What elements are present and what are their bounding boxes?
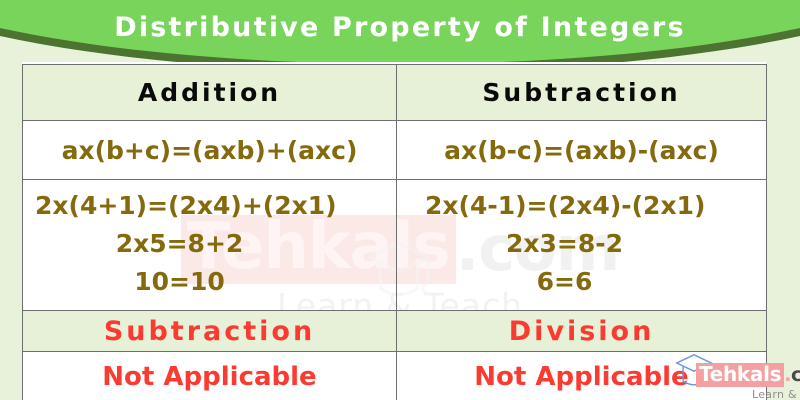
example-line: 2x(4+1)=(2x4)+(2x1) xyxy=(23,191,396,220)
not-applicable-cell-subtraction: Not Applicable xyxy=(23,352,397,400)
not-applicable-division: Not Applicable xyxy=(474,362,688,392)
column-label-subtraction: Subtraction xyxy=(482,78,680,107)
page-title: Distributive Property of Integers xyxy=(0,12,800,43)
column-label-division: Division xyxy=(509,316,655,347)
example-line: 2x3=8-2 xyxy=(397,229,766,258)
example-cell-addition: 2x(4+1)=(2x4)+(2x1) 2x5=8+2 10=10 xyxy=(23,180,397,311)
example-lines-addition: 2x(4+1)=(2x4)+(2x1) 2x5=8+2 10=10 xyxy=(23,180,396,296)
formula-cell-addition: ax(b+c)=(axb)+(axc) xyxy=(23,121,397,180)
example-cell-subtraction: 2x(4-1)=(2x4)-(2x1) 2x3=8-2 6=6 xyxy=(397,180,767,311)
column-label-addition: Addition xyxy=(138,78,281,107)
table-header-row-non-applicable-operations: Subtraction Division xyxy=(23,311,767,352)
example-line: 2x5=8+2 xyxy=(23,229,396,258)
distributive-property-table: Addition Subtraction ax(b+c)=(axb)+(axc)… xyxy=(22,64,767,400)
logo-dot: . xyxy=(784,364,791,386)
logo-domain: .com xyxy=(784,366,800,385)
formula-addition: ax(b+c)=(axb)+(axc) xyxy=(62,136,358,165)
not-applicable-subtraction: Not Applicable xyxy=(102,362,316,392)
table-row-formulas: ax(b+c)=(axb)+(axc) ax(b-c)=(axb)-(axc) xyxy=(23,121,767,180)
brand-logo: Tehkals .com Learn & Teach xyxy=(674,351,792,397)
logo-brand-row: Tehkals .com xyxy=(696,363,800,387)
table-header-cell-subtraction: Subtraction xyxy=(397,65,767,121)
example-line: 10=10 xyxy=(23,267,396,296)
table-row-examples: 2x(4+1)=(2x4)+(2x1) 2x5=8+2 10=10 2x(4-1… xyxy=(23,180,767,311)
table-header-cell-addition: Addition xyxy=(23,65,397,121)
logo-tagline: Learn & Teach xyxy=(696,388,800,400)
table-row-not-applicable: Not Applicable Not Applicable xyxy=(23,352,767,400)
logo-text-block: Tehkals .com Learn & Teach xyxy=(696,363,800,400)
example-line: 2x(4-1)=(2x4)-(2x1) xyxy=(397,191,766,220)
formula-subtraction: ax(b-c)=(axb)-(axc) xyxy=(444,136,719,165)
column-label-subtraction-2: Subtraction xyxy=(104,316,315,347)
table-header-cell-subtraction-2: Subtraction xyxy=(23,311,397,352)
example-line: 6=6 xyxy=(397,267,766,296)
logo-domain-text: com xyxy=(791,364,800,386)
example-lines-subtraction: 2x(4-1)=(2x4)-(2x1) 2x3=8-2 6=6 xyxy=(397,180,766,296)
infographic-canvas: Distributive Property of Integers Tehkal… xyxy=(0,0,800,400)
formula-cell-subtraction: ax(b-c)=(axb)-(axc) xyxy=(397,121,767,180)
table-header-cell-division: Division xyxy=(397,311,767,352)
logo-brand: Tehkals xyxy=(696,363,784,387)
table-header-row-operations: Addition Subtraction xyxy=(23,65,767,121)
